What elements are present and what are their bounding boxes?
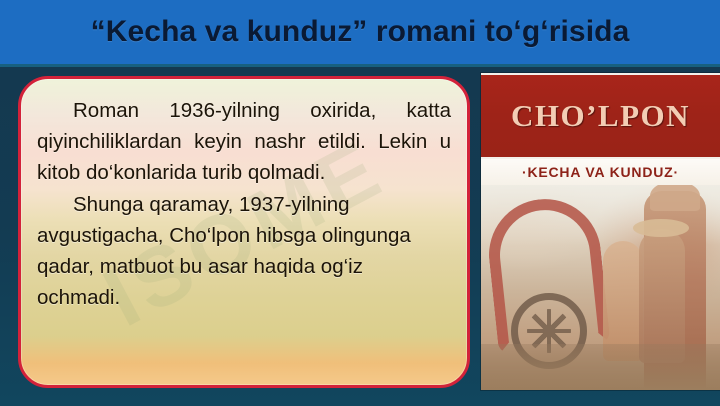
illustration-tower-top — [650, 185, 700, 211]
illustration-hat-icon — [633, 219, 689, 237]
cover-author-name: CHO’LPON — [511, 98, 690, 134]
cover-author-band: CHO’LPON — [481, 73, 720, 159]
cover-title-band: ·KECHA VA KUNDUZ· — [481, 159, 720, 185]
cover-illustration — [481, 185, 720, 390]
book-cover-image: CHO’LPON ·KECHA VA KUNDUZ· — [481, 73, 720, 390]
illustration-ground — [481, 344, 720, 390]
illustration-figure-left — [603, 241, 643, 361]
paragraph-2: Shunga qaramay, 1937-yilning avgustigach… — [37, 189, 451, 313]
illustration-figure-right — [639, 229, 685, 363]
paragraph-1: Roman 1936-yilning oxirida, katta qiyinc… — [37, 95, 451, 188]
cover-book-title: ·KECHA VA KUNDUZ· — [522, 164, 679, 180]
slide-canvas: “Kecha va kunduz” romani to‘g‘risida ISO… — [0, 0, 720, 406]
page-title: “Kecha va kunduz” romani to‘g‘risida — [91, 15, 630, 49]
panel-body: Roman 1936-yilning oxirida, katta qiyinc… — [21, 79, 467, 323]
text-content-panel: ISOME Roman 1936-yilning oxirida, katta … — [18, 76, 470, 388]
slide-title-bar: “Kecha va kunduz” romani to‘g‘risida — [0, 0, 720, 67]
